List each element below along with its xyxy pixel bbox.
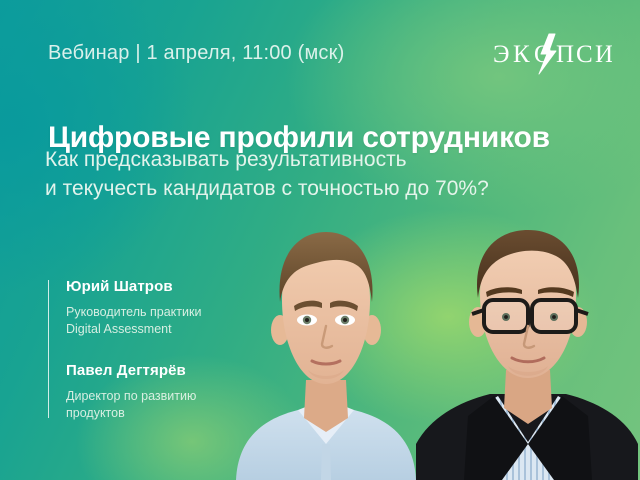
speaker-role-line-2: продуктов xyxy=(66,405,201,422)
webinar-promo-banner: Э К О П С И Вебинар | 1 апреля, 11:00 (м… xyxy=(0,0,640,480)
speaker-name: Павел Дегтярёв xyxy=(66,362,201,379)
left-man-placket xyxy=(321,444,331,480)
speaker-name: Юрий Шатров xyxy=(66,278,201,295)
speakers-list: Юрий Шатров Руководитель практики Digita… xyxy=(48,278,201,422)
speaker-role: Директор по развитию продуктов xyxy=(66,388,201,422)
speaker-role: Руководитель практики Digital Assessment xyxy=(66,304,201,338)
speaker-role-line-1: Директор по развитию xyxy=(66,388,201,405)
speaker-photo-pavel-degtyarev xyxy=(416,230,640,480)
speaker-entry-1: Юрий Шатров Руководитель практики Digita… xyxy=(66,278,201,338)
speaker-role-line-2: Digital Assessment xyxy=(66,321,201,338)
speaker-role-line-1: Руководитель практики xyxy=(66,304,201,321)
speaker-entry-2: Павел Дегтярёв Директор по развитию прод… xyxy=(66,362,201,422)
speaker-photo-yuriy-shatrov xyxy=(228,222,424,480)
